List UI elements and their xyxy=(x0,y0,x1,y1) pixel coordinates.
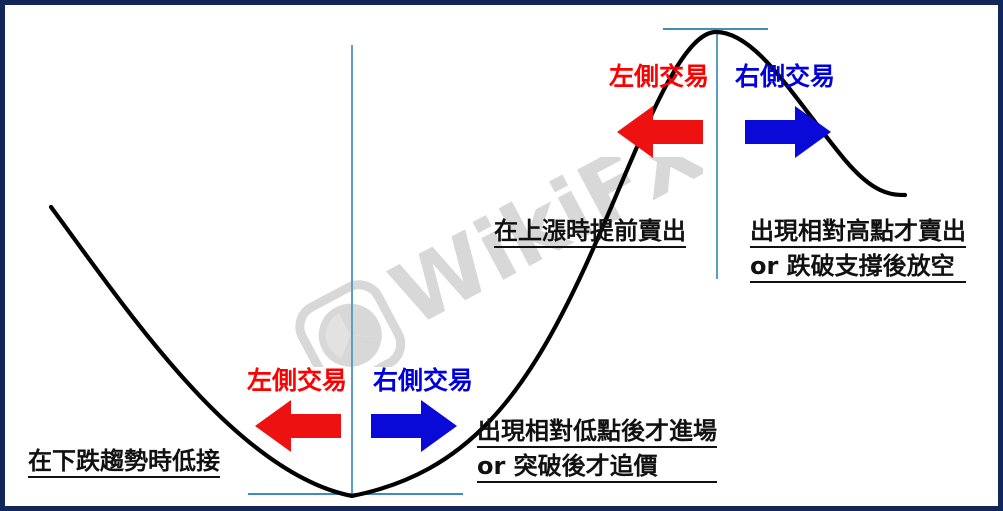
top-left-note: 在上漲時提前賣出 xyxy=(494,218,686,248)
top-left-trade-label: 左側交易 xyxy=(609,63,709,91)
bottom-right-trade-label: 右側交易 xyxy=(373,367,473,395)
bottom-right-note-line-2: or 突破後才追價 xyxy=(477,453,717,483)
top-right-note-line-2: or 跌破支撐後放空 xyxy=(750,253,966,283)
bottom-left-trade-label: 左側交易 xyxy=(247,367,347,395)
bottom-right-arrow-icon xyxy=(371,400,457,452)
top-left-arrow-icon xyxy=(617,106,703,158)
top-left-note-line-1: 在上漲時提前賣出 xyxy=(494,218,686,248)
bottom-left-note-line-1: 在下跌趨勢時低接 xyxy=(28,448,220,478)
top-right-trade-label: 右側交易 xyxy=(735,63,835,91)
top-right-arrow-icon xyxy=(745,106,831,158)
top-right-note: 出現相對高點才賣出 or 跌破支撐後放空 xyxy=(750,218,966,283)
bottom-left-note: 在下跌趨勢時低接 xyxy=(28,448,220,478)
bottom-right-note-line-1: 出現相對低點後才進場 xyxy=(477,418,717,448)
bottom-right-note: 出現相對低點後才進場 or 突破後才追價 xyxy=(477,418,717,483)
diagram-canvas: WikiFX 左側交易 右側交易 xyxy=(0,0,1003,511)
bottom-left-arrow-icon xyxy=(255,400,341,452)
top-right-note-line-1: 出現相對高點才賣出 xyxy=(750,218,966,248)
